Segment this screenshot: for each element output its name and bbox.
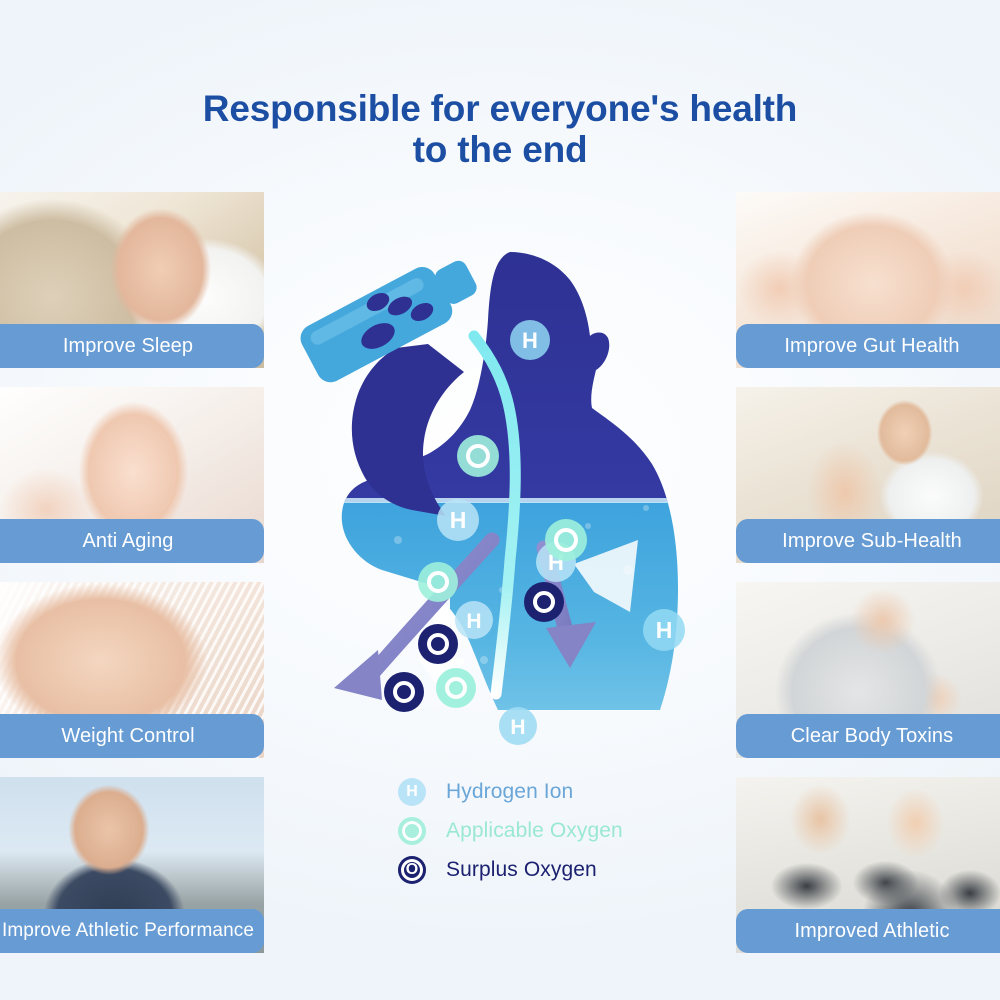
molecule-surplus-oxygen-icon (384, 672, 424, 712)
page-title-line1: Responsible for everyone's health (203, 88, 797, 129)
legend-label: Hydrogen Ion (446, 780, 573, 804)
svg-text:H: H (450, 507, 467, 533)
legend-item-hydrogen-ion: H Hydrogen Ion (398, 772, 698, 811)
legend: H Hydrogen Ion Applicable Oxygen O Surpl… (398, 772, 698, 889)
benefit-card-improve-gut-health[interactable]: Improve Gut Health (736, 192, 1000, 368)
benefit-label: Improve Sleep (0, 324, 264, 368)
benefit-label: Improve Athletic Performance (0, 909, 264, 953)
molecule-surplus-oxygen-icon (418, 624, 458, 664)
legend-item-applicable-oxygen: Applicable Oxygen (398, 811, 698, 850)
benefit-label: Improve Sub-Health (736, 519, 1000, 563)
svg-text:H: H (466, 610, 481, 633)
benefit-card-improve-athletic-performance[interactable]: Improve Athletic Performance (0, 777, 264, 953)
benefit-label: Improve Gut Health (736, 324, 1000, 368)
molecule-applicable-oxygen-icon (457, 435, 499, 477)
benefit-label: Anti Aging (0, 519, 264, 563)
benefit-card-clear-body-toxins[interactable]: Clear Body Toxins (736, 582, 1000, 758)
molecule-applicable-oxygen-icon (436, 668, 476, 708)
page-title-line2: to the end (0, 129, 1000, 170)
benefit-card-improve-sub-health[interactable]: Improve Sub-Health (736, 387, 1000, 563)
svg-text:H: H (522, 328, 538, 353)
benefit-card-improved-athletic[interactable]: Improved Athletic (736, 777, 1000, 953)
infographic-page: Responsible for everyone's health to the… (0, 0, 1000, 1000)
benefit-label: Improved Athletic (736, 909, 1000, 953)
molecule-hydrogen-icon: H (437, 499, 479, 541)
benefit-card-weight-control[interactable]: Weight Control (0, 582, 264, 758)
benefit-label: Clear Body Toxins (736, 714, 1000, 758)
legend-label: Surplus Oxygen (446, 858, 597, 882)
applicable-oxygen-icon (398, 817, 426, 845)
benefit-card-improve-sleep[interactable]: Improve Sleep (0, 192, 264, 368)
svg-text:H: H (656, 617, 673, 643)
man-drinking-water-illustration: H H H H H (278, 240, 722, 760)
hydrogen-ion-icon: H (398, 778, 426, 806)
page-title: Responsible for everyone's health to the… (0, 88, 1000, 171)
benefit-card-anti-aging[interactable]: Anti Aging (0, 387, 264, 563)
molecule-applicable-oxygen-icon (545, 519, 587, 561)
benefit-label: Weight Control (0, 714, 264, 758)
legend-label: Applicable Oxygen (446, 819, 623, 843)
molecule-hydrogen-icon: H (455, 601, 493, 639)
molecule-hydrogen-icon: H (510, 320, 550, 360)
legend-item-surplus-oxygen: O Surplus Oxygen (398, 850, 698, 889)
molecule-surplus-oxygen-icon (524, 582, 564, 622)
molecule-applicable-oxygen-icon (418, 562, 458, 602)
molecule-hydrogen-icon: H (643, 609, 685, 651)
molecule-hydrogen-icon: H (499, 707, 537, 745)
svg-text:H: H (510, 716, 525, 739)
surplus-oxygen-icon: O (398, 856, 426, 884)
